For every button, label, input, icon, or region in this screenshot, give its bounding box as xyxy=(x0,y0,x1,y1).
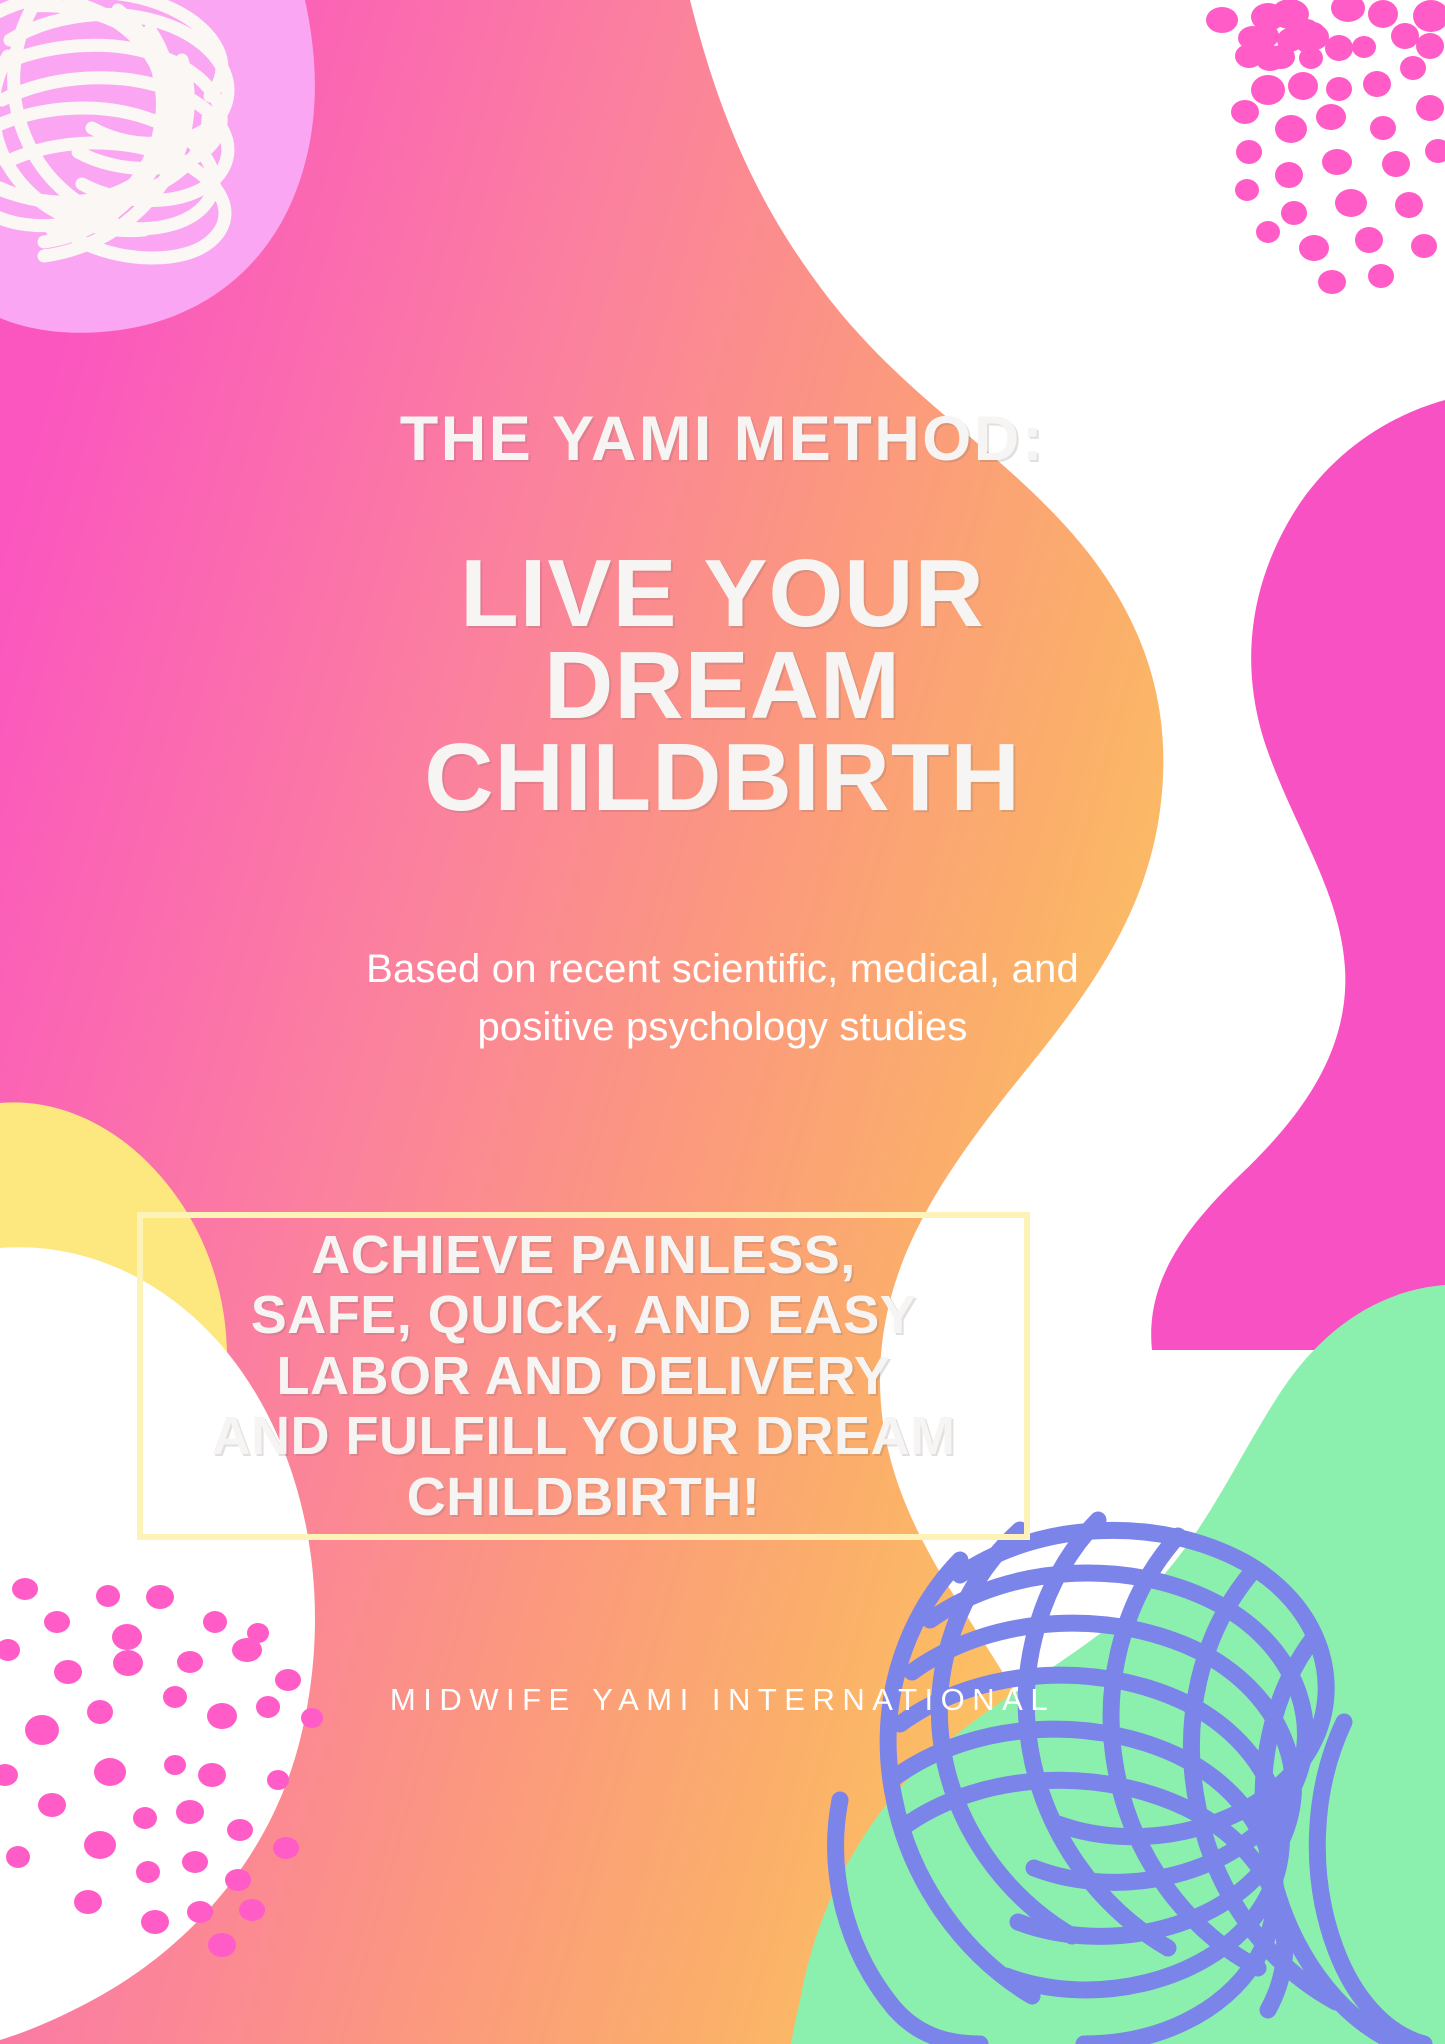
callout-line-2: SAFE, QUICK, AND EASY xyxy=(212,1285,956,1345)
poster-content: THE YAMI METHOD: LIVE YOUR DREAM CHILDBI… xyxy=(0,0,1445,2044)
headline-line-2: DREAM xyxy=(60,640,1385,732)
callout-text: ACHIEVE PAINLESS, SAFE, QUICK, AND EASY … xyxy=(198,1225,970,1527)
poster-footer-brand: MIDWIFE YAMI INTERNATIONAL xyxy=(0,1682,1445,1718)
subtitle-line-1: Based on recent scientific, medical, and xyxy=(170,940,1275,998)
poster-headline: LIVE YOUR DREAM CHILDBIRTH xyxy=(60,548,1385,824)
callout-line-3: LABOR AND DELIVERY xyxy=(212,1346,956,1406)
callout-line-5: CHILDBIRTH! xyxy=(212,1467,956,1527)
headline-line-3: CHILDBIRTH xyxy=(60,732,1385,824)
poster-eyebrow: THE YAMI METHOD: xyxy=(0,408,1445,471)
callout-line-4: AND FULFILL YOUR DREAM xyxy=(212,1406,956,1466)
callout-line-1: ACHIEVE PAINLESS, xyxy=(212,1225,956,1285)
headline-line-1: LIVE YOUR xyxy=(60,548,1385,640)
subtitle-line-2: positive psychology studies xyxy=(170,998,1275,1056)
poster-subtitle: Based on recent scientific, medical, and… xyxy=(170,940,1275,1056)
poster-canvas: THE YAMI METHOD: LIVE YOUR DREAM CHILDBI… xyxy=(0,0,1445,2044)
callout-box: ACHIEVE PAINLESS, SAFE, QUICK, AND EASY … xyxy=(137,1212,1030,1540)
